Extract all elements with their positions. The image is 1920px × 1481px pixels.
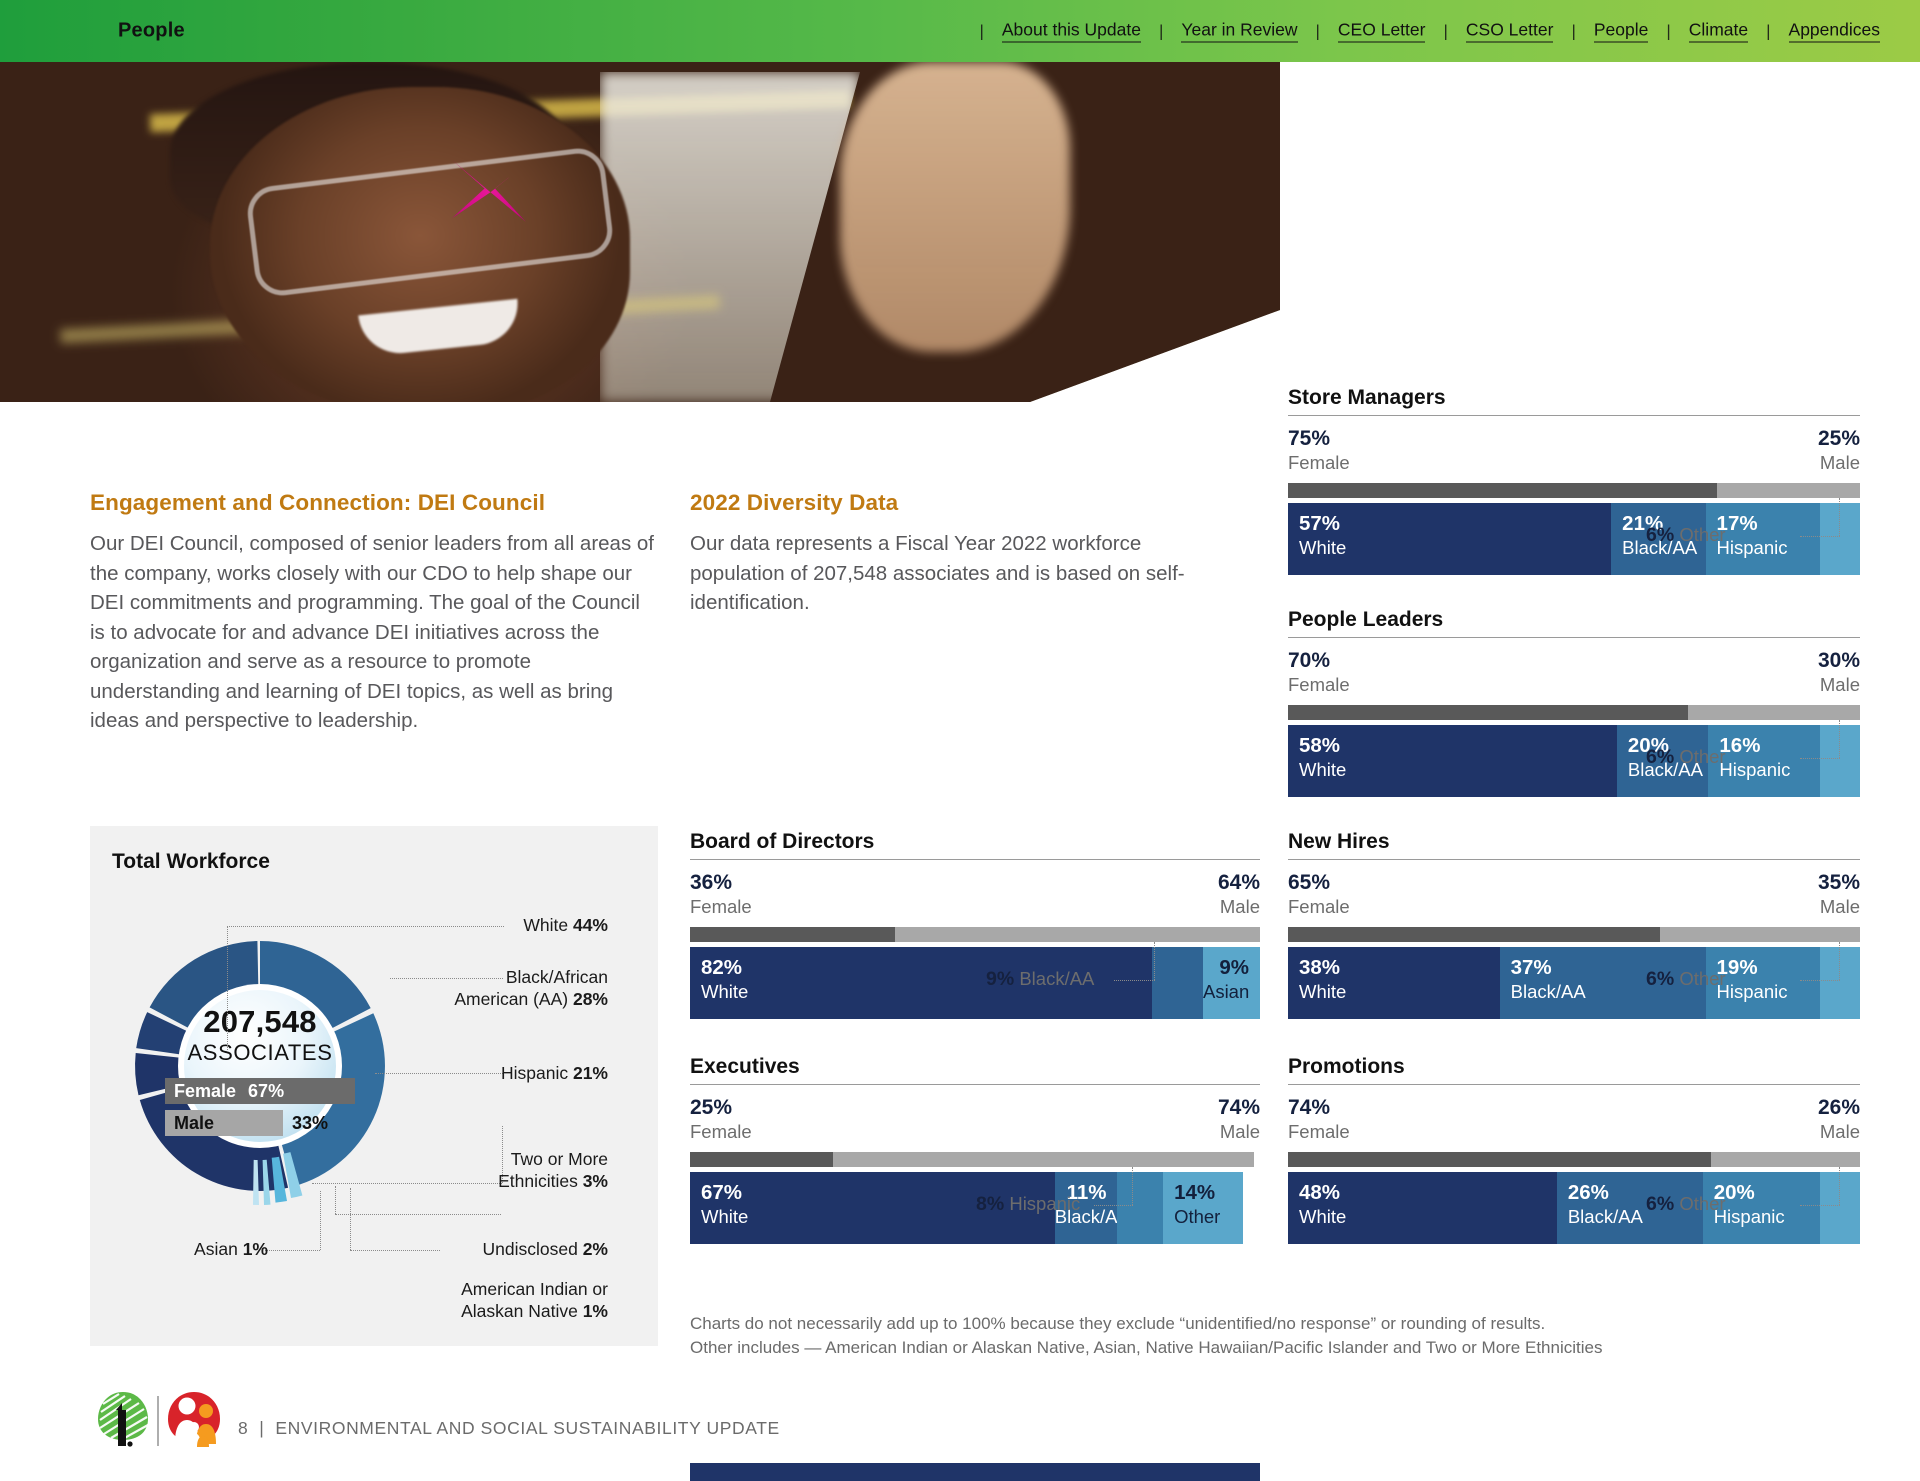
other-note-leader-horz	[1800, 980, 1840, 981]
gender-summary-promotions: 74% Female 26% Male	[1288, 1096, 1860, 1143]
donut-label-black-aa-pct: 28%	[573, 989, 608, 1009]
donut-label-white-pct: 44%	[573, 915, 608, 935]
nav-links: | About this Update | Year in Review | C…	[979, 20, 1898, 43]
family-logo-icon	[168, 1392, 220, 1447]
donut-label-undisclosed-pct: 2%	[583, 1239, 608, 1259]
hispanic-note-leader-vert	[1132, 1167, 1133, 1205]
gender-male-promotions: 26% Male	[1818, 1096, 1860, 1143]
dei-council-body: Our DEI Council, composed of senior lead…	[90, 529, 660, 736]
gender-summary-board: 36% Female 64% Male	[690, 871, 1260, 918]
other-note-label: Other	[1679, 1193, 1725, 1214]
gender-male-label: Male	[1218, 895, 1260, 918]
diversity-data-section: 2022 Diversity Data Our data represents …	[690, 490, 1210, 618]
chart-divider	[690, 859, 1260, 860]
other-note-pct: 9%	[986, 968, 1014, 990]
chart-store-managers: Store Managers 75% Female 25% Male 57% W…	[1288, 386, 1860, 575]
gender-bar-female-segment	[1288, 1152, 1711, 1167]
dei-council-section: Engagement and Connection: DEI Council O…	[90, 490, 660, 736]
gender-male-label: Male	[1218, 1120, 1260, 1143]
other-note-pct: 6%	[1646, 524, 1674, 546]
gender-male-pct: 74%	[1218, 1096, 1260, 1120]
nav-link-year-in-review[interactable]: Year in Review	[1181, 20, 1297, 43]
nav-link-climate[interactable]: Climate	[1689, 20, 1748, 43]
other-note-pct: 6%	[1646, 968, 1674, 990]
total-workforce-panel: Total Workforce	[90, 826, 658, 1346]
gender-female-board: 36% Female	[690, 871, 752, 918]
workforce-female-bar: Female 67%	[165, 1078, 355, 1104]
segment-label-hispanic: Hispanic	[1719, 758, 1820, 782]
gender-male-label: Male	[1818, 1120, 1860, 1143]
segment-pct-hispanic: 16%	[1719, 734, 1820, 758]
gender-male-executives: 74% Male	[1218, 1096, 1260, 1143]
gender-bar-female-segment	[1288, 927, 1660, 942]
chart-divider	[1288, 637, 1860, 638]
other-note-pct: 8%	[976, 1193, 1004, 1215]
workforce-male-value: 33%	[292, 1110, 328, 1136]
gender-bar-female-segment	[690, 927, 895, 942]
other-note-label: Hispanic	[1009, 1193, 1080, 1214]
total-workforce-title: Total Workforce	[112, 850, 270, 874]
chart-title-store-managers: Store Managers	[1288, 386, 1860, 410]
top-navigation-bar: People | About this Update | Year in Rev…	[0, 0, 1920, 62]
footer-separator: |	[259, 1418, 264, 1438]
other-note-label: Other	[1679, 524, 1725, 545]
gender-bar-male-segment	[895, 927, 1260, 942]
donut-label-asian-pct: 1%	[243, 1239, 268, 1259]
donut-label-black-aa: Black/AfricanAmerican (AA) 28%	[390, 966, 608, 1010]
workforce-female-value: 67%	[248, 1081, 284, 1102]
other-note-leader-vert	[1839, 942, 1840, 980]
leader-line-white-vert	[227, 926, 228, 1054]
footer-page-number: 8	[238, 1418, 248, 1438]
ethnicity-bar-store-managers: 57% White 21% Black/AA 17% Hispanic	[1288, 503, 1860, 575]
tree-logo-icon	[98, 1392, 148, 1447]
donut-label-undisclosed: Undisclosed 2%	[390, 1238, 608, 1260]
gender-bar-executives	[690, 1152, 1260, 1167]
other-note-board: 9% Black/AA	[986, 968, 1094, 991]
gender-bar-male-segment	[833, 1152, 1255, 1167]
ethnicity-segment-black-aa	[1152, 947, 1203, 1019]
chart-board-of-directors: Board of Directors 36% Female 64% Male 8…	[690, 830, 1260, 1019]
hero-photo	[0, 62, 1280, 402]
hero-photo-background	[0, 62, 1280, 402]
ethnicity-segment-white: 48% White	[1288, 1172, 1557, 1244]
segment-pct-other: 14%	[1174, 1181, 1243, 1205]
chart-people-leaders: People Leaders 70% Female 30% Male 58% W…	[1288, 608, 1860, 797]
segment-label-white: White	[1299, 758, 1617, 782]
gender-male-store-managers: 25% Male	[1818, 427, 1860, 474]
gender-bar-people-leaders	[1288, 705, 1860, 720]
ethnicity-segment-asian: 9% Asian	[1203, 947, 1260, 1019]
chart-title-promotions: Promotions	[1288, 1055, 1860, 1079]
chart-executives: Executives 25% Female 74% Male 67% White…	[690, 1055, 1260, 1244]
ethnicity-bar-board: 82% White 9% Asian	[690, 947, 1260, 1019]
gender-male-label: Male	[1818, 895, 1860, 918]
gender-female-store-managers: 75% Female	[1288, 427, 1350, 474]
gender-female-pct: 75%	[1288, 427, 1350, 451]
other-note-leader-vert	[1839, 720, 1840, 758]
diversity-data-heading: 2022 Diversity Data	[690, 490, 1210, 516]
gender-female-pct: 36%	[690, 871, 752, 895]
black-aa-note-leader-vert	[1154, 942, 1155, 980]
segment-pct-hispanic: 20%	[1714, 1181, 1820, 1205]
diversity-data-body: Our data represents a Fiscal Year 2022 w…	[690, 529, 1210, 618]
chart-promotions: Promotions 74% Female 26% Male 48% White…	[1288, 1055, 1860, 1244]
gender-bar-female-segment	[690, 1152, 833, 1167]
footer-document-title: ENVIRONMENTAL AND SOCIAL SUSTAINABILITY …	[275, 1418, 779, 1438]
nav-separator: |	[1571, 21, 1575, 41]
gender-female-label: Female	[1288, 451, 1350, 474]
other-note-promotions: 6% Other	[1646, 1193, 1726, 1216]
ethnicity-bar-people-leaders: 58% White 20% Black/AA 16% Hispanic	[1288, 725, 1860, 797]
gender-summary-new-hires: 65% Female 35% Male	[1288, 871, 1860, 918]
gender-bar-female-segment	[1288, 483, 1717, 498]
gender-female-label: Female	[1288, 1120, 1350, 1143]
segment-pct-white: 38%	[1299, 956, 1500, 980]
other-note-store-managers: 6% Other	[1646, 524, 1726, 547]
gender-bar-male-segment	[1717, 483, 1860, 498]
gender-female-pct: 74%	[1288, 1096, 1350, 1120]
segment-pct-white: 48%	[1299, 1181, 1557, 1205]
gender-male-pct: 64%	[1218, 871, 1260, 895]
workforce-associate-label: ASSOCIATES	[110, 1040, 410, 1066]
gender-female-label: Female	[690, 1120, 752, 1143]
footnote-line-2: Other includes — American Indian or Alas…	[690, 1336, 1690, 1360]
donut-label-undisclosed-text: Undisclosed	[483, 1239, 578, 1259]
ethnicity-bar-promotions: 48% White 26% Black/AA 20% Hispanic	[1288, 1172, 1860, 1244]
gender-female-pct: 65%	[1288, 871, 1350, 895]
ethnicity-segment-white: 38% White	[1288, 947, 1500, 1019]
segment-label-other: Other	[1174, 1205, 1243, 1229]
gender-bar-store-managers	[1288, 483, 1860, 498]
donut-label-hispanic-pct: 21%	[573, 1063, 608, 1083]
nav-separator: |	[1316, 21, 1320, 41]
nav-separator: |	[1443, 21, 1447, 41]
nav-link-people[interactable]: People	[1594, 20, 1649, 43]
workforce-male-label: Male	[174, 1113, 214, 1134]
gender-male-pct: 30%	[1818, 649, 1860, 673]
gender-female-label: Female	[1288, 895, 1350, 918]
chart-title-new-hires: New Hires	[1288, 830, 1860, 854]
gender-female-label: Female	[690, 895, 752, 918]
segment-label-hispanic: Hispanic	[1714, 1205, 1820, 1229]
gender-female-new-hires: 65% Female	[1288, 871, 1350, 918]
other-note-new-hires: 6% Other	[1646, 968, 1726, 991]
gender-female-people-leaders: 70% Female	[1288, 649, 1350, 696]
footer-logo-svg	[95, 1390, 235, 1452]
donut-label-asian: Asian 1%	[150, 1238, 268, 1260]
segment-label-asian: Asian	[1203, 980, 1249, 1004]
ethnicity-segment-hispanic	[1117, 1172, 1163, 1244]
donut-label-american-indian: American Indian orAlaskan Native 1%	[390, 1278, 608, 1322]
donut-label-two-or-more-pct: 3%	[583, 1171, 608, 1191]
leader-line-american-indian-vert	[350, 1188, 351, 1250]
gender-bar-male-segment	[1711, 1152, 1860, 1167]
segment-label-white: White	[1299, 536, 1611, 560]
other-note-leader-horz	[1800, 536, 1840, 537]
nav-link-ceo-letter[interactable]: CEO Letter	[1338, 20, 1426, 43]
other-note-label: Other	[1679, 746, 1725, 767]
gender-bar-male-segment	[1660, 927, 1860, 942]
nav-separator: |	[1766, 21, 1770, 41]
donut-label-asian-text: Asian	[194, 1239, 238, 1259]
other-note-pct: 6%	[1646, 1193, 1674, 1215]
ethnicity-segment-other: 14% Other	[1163, 1172, 1243, 1244]
hero-blur-shape	[600, 72, 860, 402]
gender-male-pct: 25%	[1818, 427, 1860, 451]
segment-label-hispanic: Hispanic	[1717, 980, 1820, 1004]
segment-pct-asian: 9%	[1203, 956, 1249, 980]
other-note-label: Other	[1679, 968, 1725, 989]
gender-summary-people-leaders: 70% Female 30% Male	[1288, 649, 1860, 696]
chart-divider	[1288, 1084, 1860, 1085]
gender-bar-new-hires	[1288, 927, 1860, 942]
gender-male-pct: 26%	[1818, 1096, 1860, 1120]
donut-label-white-text: White	[523, 915, 568, 935]
other-note-executives: 8% Hispanic	[976, 1193, 1080, 1216]
workforce-male-bar: Male	[165, 1110, 283, 1136]
ethnicity-bar-new-hires: 38% White 37% Black/AA 19% Hispanic	[1288, 947, 1860, 1019]
chart-divider	[690, 1084, 1260, 1085]
gender-female-pct: 25%	[690, 1096, 752, 1120]
other-note-pct: 6%	[1646, 746, 1674, 768]
ethnicity-segment-white: 58% White	[1288, 725, 1617, 797]
chart-title-board-of-directors: Board of Directors	[690, 830, 1260, 854]
segment-label-white: White	[1299, 980, 1500, 1004]
other-note-leader-vert	[1839, 1167, 1840, 1205]
footer-accent-bar	[690, 1463, 1260, 1481]
donut-label-white: White 44%	[390, 914, 608, 936]
gender-male-label: Male	[1818, 673, 1860, 696]
gender-bar-male-segment	[1688, 705, 1860, 720]
other-note-people-leaders: 6% Other	[1646, 746, 1726, 769]
nav-separator: |	[1666, 21, 1670, 41]
ethnicity-bar-executives: 67% White 11% Black/AA 14% Other	[690, 1172, 1260, 1244]
workforce-associate-count: 207,548	[110, 1004, 410, 1040]
gender-male-pct: 35%	[1818, 871, 1860, 895]
donut-label-hispanic-text: Hispanic	[501, 1063, 568, 1083]
segment-pct-white: 58%	[1299, 734, 1617, 758]
hispanic-note-leader-horz	[1094, 1205, 1133, 1206]
other-note-leader-vert	[1839, 498, 1840, 536]
segment-pct-hispanic: 19%	[1717, 956, 1820, 980]
workforce-female-label: Female	[174, 1081, 236, 1102]
hero-blur-shape	[840, 62, 1070, 352]
donut-label-hispanic: Hispanic 21%	[390, 1062, 608, 1084]
gender-bar-board	[690, 927, 1260, 942]
gender-female-label: Female	[1288, 673, 1350, 696]
segment-label-white: White	[1299, 1205, 1557, 1229]
segment-label-hispanic: Hispanic	[1717, 536, 1820, 560]
gender-male-people-leaders: 30% Male	[1818, 649, 1860, 696]
black-aa-note-leader-horz	[1114, 980, 1155, 981]
donut-label-two-or-more: Two or MoreEthnicities 3%	[390, 1148, 608, 1192]
other-note-leader-horz	[1800, 1205, 1840, 1206]
chart-title-executives: Executives	[690, 1055, 1260, 1079]
gender-bar-promotions	[1288, 1152, 1860, 1167]
gender-female-promotions: 74% Female	[1288, 1096, 1350, 1143]
leader-line-undisclosed-vert	[335, 1186, 336, 1214]
donut-label-american-indian-pct: 1%	[583, 1301, 608, 1321]
gender-bar-female-segment	[1288, 705, 1688, 720]
gender-summary-executives: 25% Female 74% Male	[690, 1096, 1260, 1143]
footnote-line-1: Charts do not necessarily add up to 100%…	[690, 1312, 1690, 1336]
gender-male-label: Male	[1818, 451, 1860, 474]
nav-link-about-this-update[interactable]: About this Update	[1002, 20, 1141, 43]
chart-divider	[1288, 415, 1860, 416]
leader-line-asian-vert	[320, 1191, 321, 1250]
gender-male-board: 64% Male	[1218, 871, 1260, 918]
other-note-leader-horz	[1800, 758, 1840, 759]
gender-female-executives: 25% Female	[690, 1096, 752, 1143]
nav-separator: |	[1159, 21, 1163, 41]
gender-male-new-hires: 35% Male	[1818, 871, 1860, 918]
chart-divider	[1288, 859, 1860, 860]
nav-separator: |	[979, 21, 983, 41]
page-title: People	[118, 20, 185, 43]
footer-logos	[95, 1390, 235, 1452]
dei-council-heading: Engagement and Connection: DEI Council	[90, 490, 660, 516]
ethnicity-segment-white: 57% White	[1288, 503, 1611, 575]
segment-pct-hispanic: 17%	[1717, 512, 1820, 536]
chart-title-people-leaders: People Leaders	[1288, 608, 1860, 632]
leader-line-asian	[265, 1250, 320, 1251]
total-workforce-donut-chart: 207,548 ASSOCIATES Female 67% Male 33%	[110, 906, 410, 1216]
nav-link-appendices[interactable]: Appendices	[1789, 20, 1880, 43]
gender-summary-store-managers: 75% Female 25% Male	[1288, 427, 1860, 474]
chart-footnotes: Charts do not necessarily add up to 100%…	[690, 1312, 1690, 1360]
nav-link-cso-letter[interactable]: CSO Letter	[1466, 20, 1554, 43]
footer-caption: 8 | ENVIRONMENTAL AND SOCIAL SUSTAINABIL…	[238, 1418, 780, 1439]
chart-new-hires: New Hires 65% Female 35% Male 38% White …	[1288, 830, 1860, 1019]
segment-pct-white: 57%	[1299, 512, 1611, 536]
leader-line-undisclosed	[335, 1214, 501, 1215]
other-note-label: Black/AA	[1019, 968, 1094, 989]
gender-female-pct: 70%	[1288, 649, 1350, 673]
